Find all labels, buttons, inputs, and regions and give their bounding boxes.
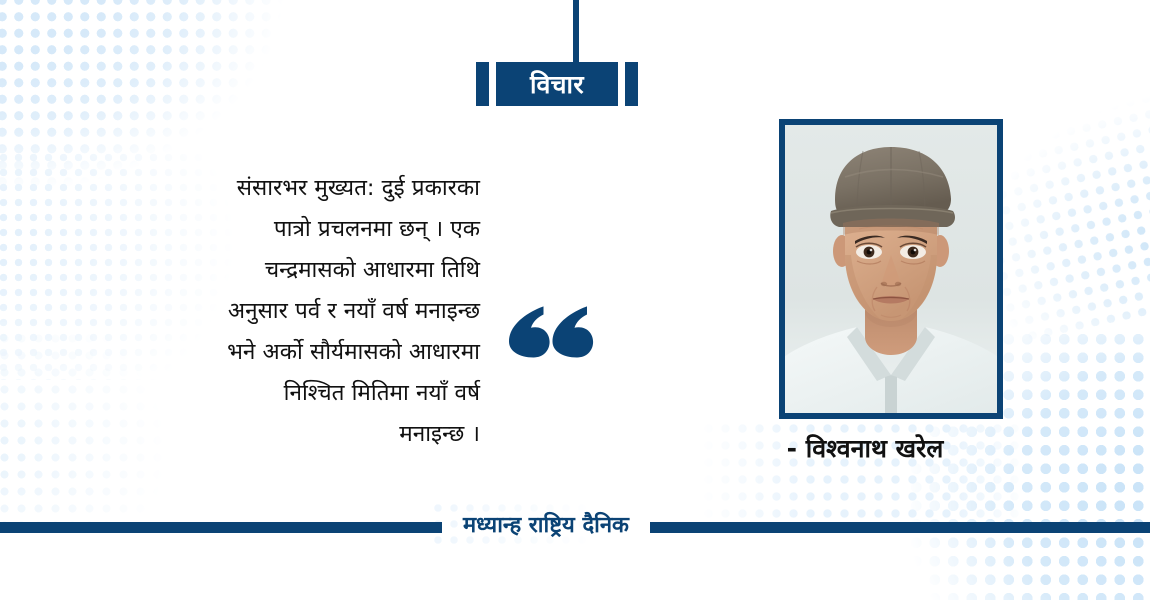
quote-line: पात्रो प्रचलनमा छन् । एक <box>60 209 480 250</box>
header-badge: विचार <box>476 62 638 106</box>
header-stem-bar <box>573 0 579 64</box>
badge-label: विचार <box>496 62 618 106</box>
badge-gap-right <box>618 62 625 106</box>
attribution-name: - विश्वनाथ खरेल <box>700 432 1030 466</box>
quote-line: संसारभर मुख्यत: दुई प्रकारका <box>60 168 480 209</box>
footer-rule-left <box>0 522 442 533</box>
portrait-frame <box>779 119 1003 419</box>
double-quote-icon <box>505 296 597 374</box>
badge-accent-bar-left <box>476 62 489 106</box>
quote-line: भने अर्को सौर्यमासको आधारमा <box>60 332 480 373</box>
quote-text: संसारभर मुख्यत: दुई प्रकारका पात्रो प्रच… <box>60 168 480 455</box>
quote-line: मनाइन्छ । <box>60 414 480 455</box>
quote-line: चन्द्रमासको आधारमा तिथि <box>60 250 480 291</box>
footer-title: मध्यान्ह राष्ट्रिय दैनिक <box>442 515 650 537</box>
quote-line: अनुसार पर्व र नयाँ वर्ष मनाइन्छ <box>60 291 480 332</box>
badge-gap-left <box>489 62 496 106</box>
portrait-photo <box>785 125 997 413</box>
footer-rule-right <box>650 522 1150 533</box>
quote-line: निश्चित मितिमा नयाँ वर्ष <box>60 373 480 414</box>
footer: मध्यान्ह राष्ट्रिय दैनिक <box>0 519 1150 535</box>
quote-card: विचार संसारभर मुख्यत: दुई प्रकारका पात्र… <box>0 0 1150 600</box>
badge-accent-bar-right <box>625 62 638 106</box>
